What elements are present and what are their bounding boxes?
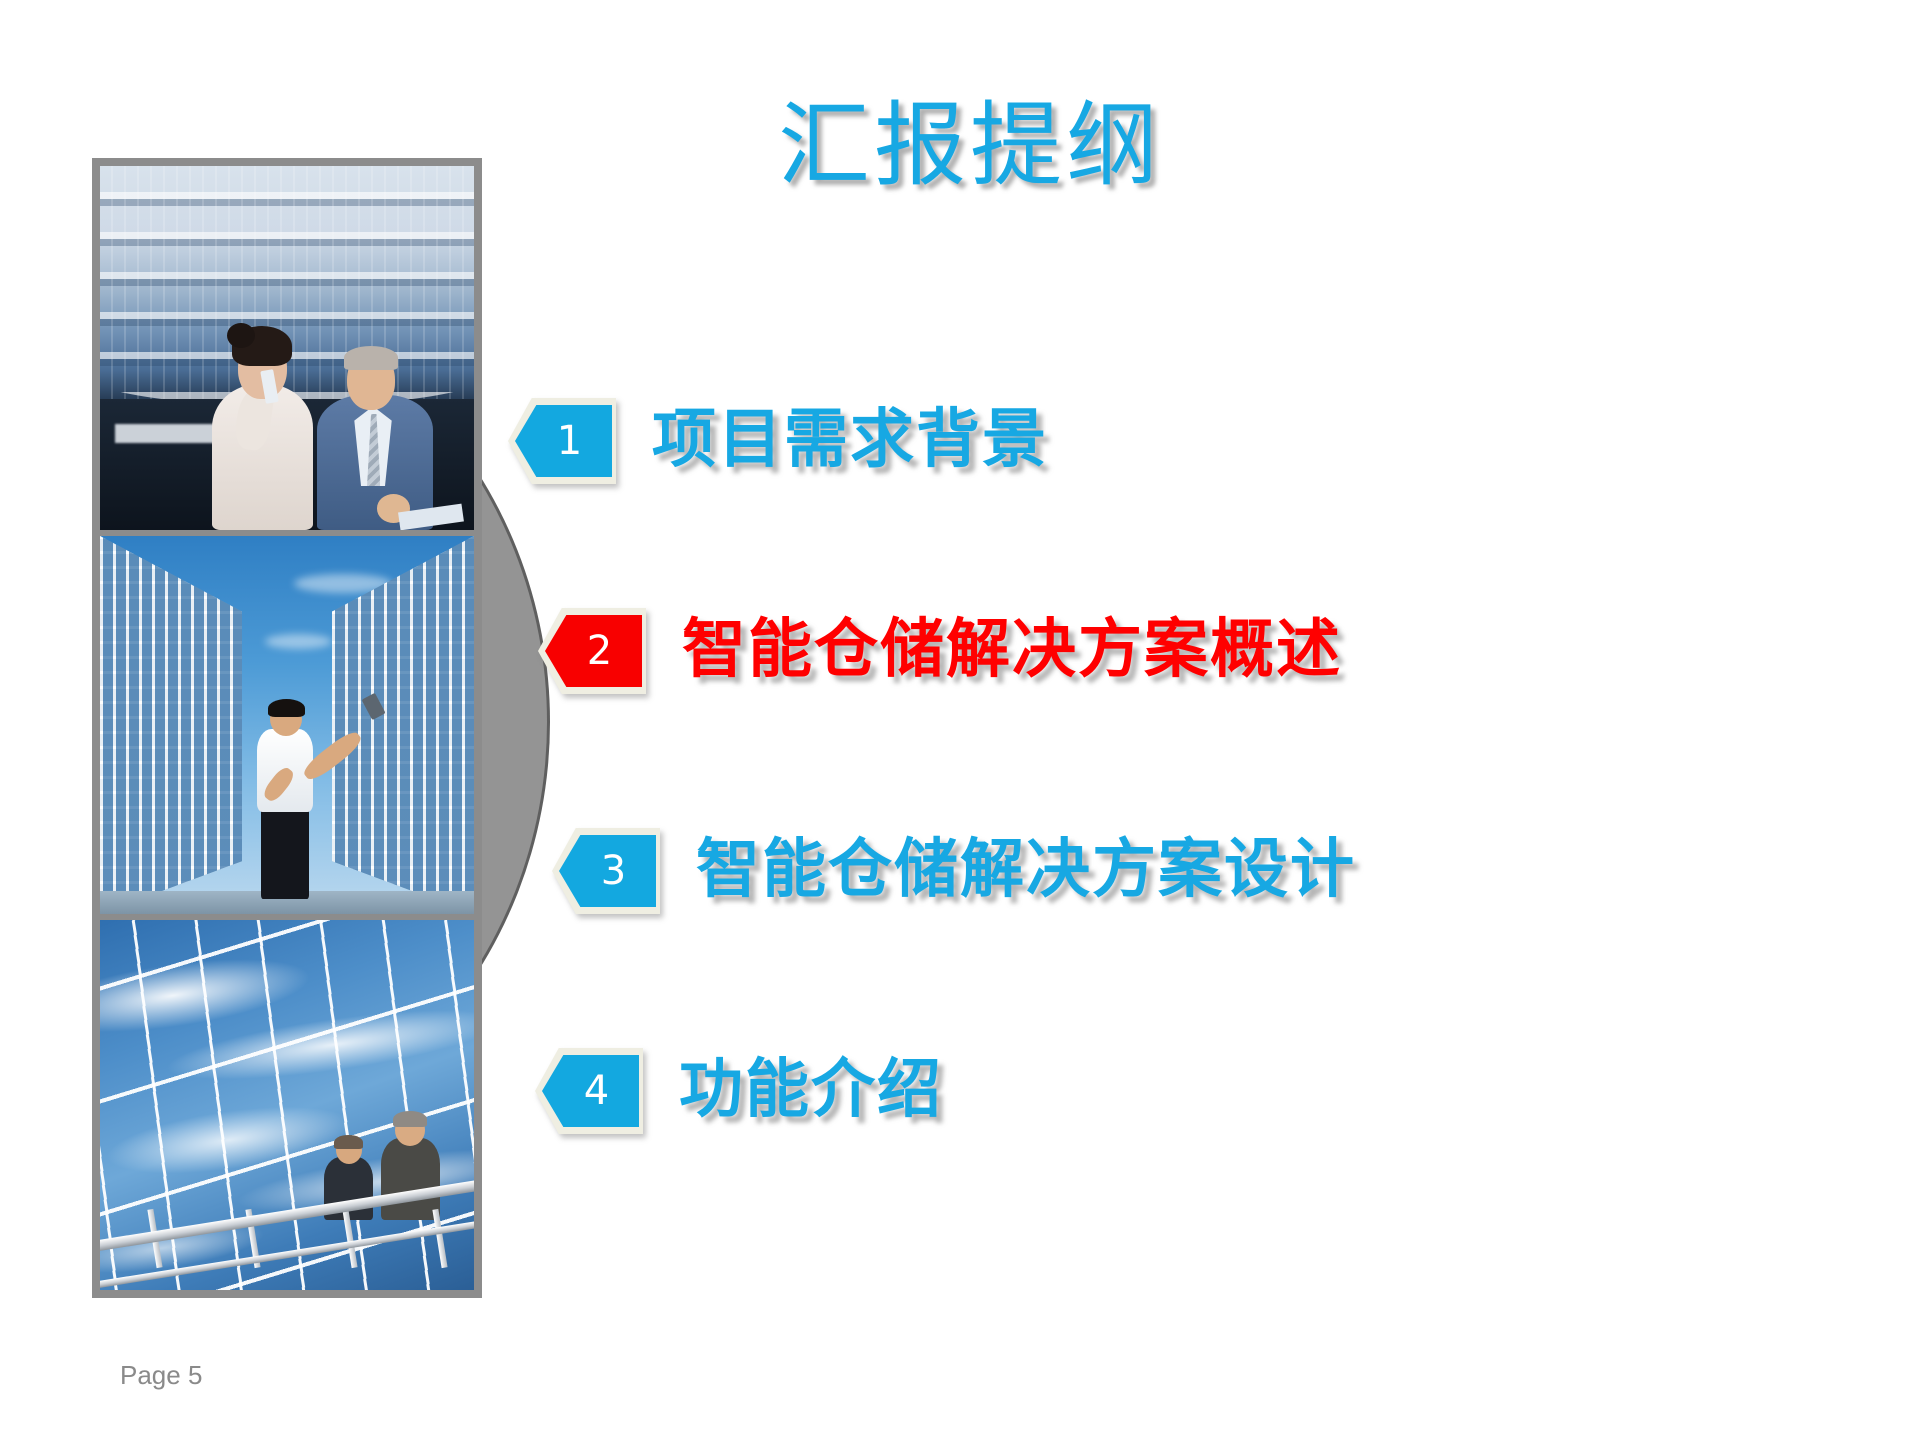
agenda-item-3-number: 3 [589, 851, 626, 891]
agenda-item-1[interactable]: 1 项目需求背景 [508, 398, 1048, 484]
agenda-item-2[interactable]: 2 智能仓储解决方案概述 [538, 608, 1342, 694]
agenda-item-1-number: 1 [545, 421, 582, 461]
hexagon-badge-1-icon: 1 [508, 398, 616, 484]
agenda-item-4-label: 功能介绍 [679, 1057, 943, 1124]
page-number: Page 5 [120, 1360, 202, 1391]
hexagon-badge-3-icon: 3 [552, 828, 660, 914]
hexagon-badge-2-icon: 2 [538, 608, 646, 694]
hexagon-badge-4-icon: 4 [535, 1048, 643, 1134]
agenda-item-2-label: 智能仓储解决方案概述 [682, 617, 1342, 684]
agenda-item-4[interactable]: 4 功能介绍 [535, 1048, 943, 1134]
agenda-list: 1 项目需求背景 2 智能仓储解决方案概述 3 智能仓储解决方案设计 [0, 0, 1920, 1440]
agenda-item-2-number: 2 [575, 631, 612, 671]
agenda-item-3-label: 智能仓储解决方案设计 [696, 837, 1356, 904]
agenda-item-1-label: 项目需求背景 [652, 407, 1048, 474]
agenda-item-4-number: 4 [572, 1071, 609, 1111]
agenda-item-3[interactable]: 3 智能仓储解决方案设计 [552, 828, 1356, 914]
slide-canvas: 汇报提纲 [0, 0, 1920, 1440]
